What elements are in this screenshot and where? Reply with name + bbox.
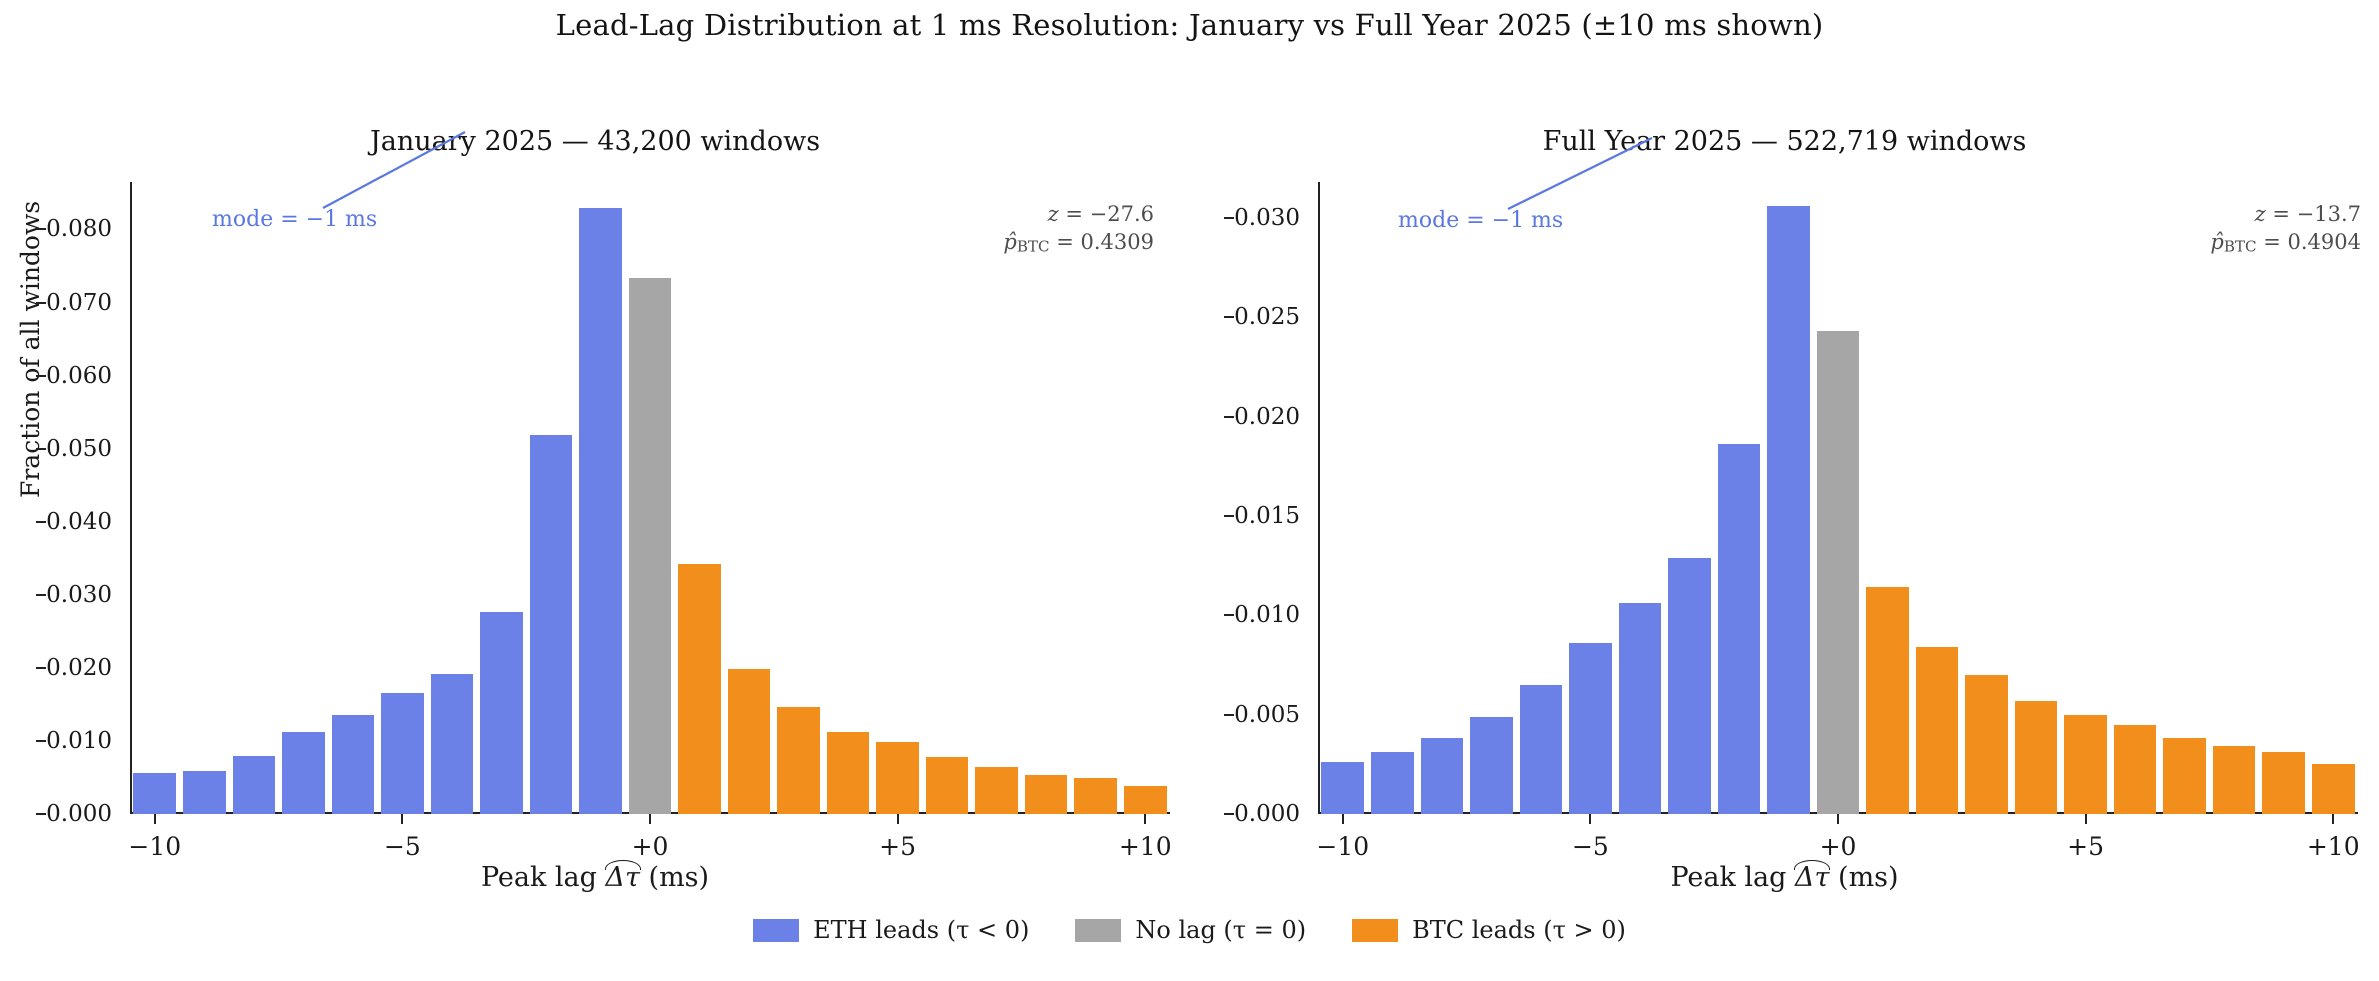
x-tick-mark	[1837, 814, 1839, 824]
y-tick-label: 0.010	[1234, 602, 1318, 628]
histogram-bar	[876, 742, 919, 814]
y-tick-mark	[36, 302, 46, 304]
panel-january: January 2025 — 43,200 windows Fraction o…	[0, 0, 1190, 981]
histogram-bar	[381, 693, 424, 814]
histogram-bar	[233, 756, 276, 814]
x-tick-mark	[154, 814, 156, 824]
histogram-bar	[133, 773, 176, 814]
x-axis-label-right: Peak lag Δτ (ms)	[1190, 862, 2379, 893]
y-tick-mark	[1224, 515, 1234, 517]
y-axis-line-left	[130, 182, 132, 814]
histogram-bar	[530, 435, 573, 814]
x-tick-label: +0	[1820, 832, 1857, 861]
histogram-bar	[1767, 206, 1810, 814]
legend-item-no-lag[interactable]: No lag (τ = 0)	[1075, 916, 1306, 944]
histogram-bar	[1569, 643, 1612, 814]
x-tick-mark	[1589, 814, 1591, 824]
histogram-bar	[777, 707, 820, 814]
x-tick-label: +5	[879, 832, 916, 861]
stat-z-january: z = −27.6	[1003, 200, 1154, 228]
histogram-bar	[579, 208, 622, 814]
y-tick-label: 0.015	[1234, 503, 1318, 529]
histogram-bar	[629, 278, 672, 814]
legend-label-eth-leads: ETH leads (τ < 0)	[813, 916, 1029, 944]
y-tick-mark	[1224, 316, 1234, 318]
histogram-bar	[2213, 746, 2256, 814]
histogram-bar	[1421, 738, 1464, 814]
histogram-bar	[183, 771, 226, 814]
legend: ETH leads (τ < 0) No lag (τ = 0) BTC lea…	[0, 916, 2379, 944]
figure-canvas: Lead-Lag Distribution at 1 ms Resolution…	[0, 0, 2379, 981]
histogram-bar	[1619, 603, 1662, 814]
stats-annotation-full-year: z = −13.7 p̂BTC = 0.4904	[2210, 200, 2361, 257]
histogram-bar	[2015, 701, 2058, 814]
histogram-bar	[728, 669, 771, 814]
stat-p-january: p̂BTC = 0.4309	[1003, 228, 1154, 257]
y-tick-label: 0.060	[46, 363, 130, 389]
y-axis-label-left: Fraction of all windows	[16, 201, 45, 498]
x-tick-label: +0	[632, 832, 669, 861]
x-tick-mark	[401, 814, 403, 824]
y-tick-mark	[36, 375, 46, 377]
delta-tau-symbol-left: Δτ	[606, 862, 640, 893]
y-tick-label: 0.080	[46, 216, 130, 242]
legend-label-no-lag: No lag (τ = 0)	[1135, 916, 1306, 944]
y-tick-label: 0.010	[46, 728, 130, 754]
panel-title-january: January 2025 — 43,200 windows	[0, 126, 1190, 157]
x-tick-label: +10	[1119, 832, 1172, 861]
histogram-bar	[827, 732, 870, 814]
stat-z-full-year: z = −13.7	[2210, 200, 2361, 228]
legend-label-btc-leads: BTC leads (τ > 0)	[1412, 916, 1626, 944]
histogram-bar	[1817, 331, 1860, 814]
histogram-bar	[332, 715, 375, 814]
y-tick-mark	[1224, 813, 1234, 815]
histogram-bar	[1025, 775, 1068, 814]
plot-area-full-year: 0.0000.0050.0100.0150.0200.0250.030−10−5…	[1318, 182, 2358, 814]
histogram-bar	[1916, 647, 1959, 814]
histogram-bar	[431, 674, 474, 814]
panel-full-year: Full Year 2025 — 522,719 windows 0.0000.…	[1190, 0, 2379, 981]
x-axis-label-left: Peak lag Δτ (ms)	[0, 862, 1190, 893]
histogram-bar	[2064, 715, 2107, 814]
histogram-bar	[1371, 752, 1414, 814]
y-tick-label: 0.025	[1234, 304, 1318, 330]
y-tick-mark	[1224, 614, 1234, 616]
x-tick-label: −10	[128, 832, 181, 861]
y-tick-label: 0.000	[46, 801, 130, 827]
histogram-bar	[1520, 685, 1563, 814]
y-tick-label: 0.070	[46, 290, 130, 316]
y-tick-mark	[36, 448, 46, 450]
histogram-bar	[2114, 725, 2157, 814]
y-tick-label: 0.040	[46, 509, 130, 535]
x-tick-mark	[649, 814, 651, 824]
x-tick-label: −10	[1316, 832, 1369, 861]
y-tick-label: 0.030	[46, 582, 130, 608]
delta-tau-symbol-right: Δτ	[1795, 862, 1829, 893]
legend-swatch-eth-leads	[753, 919, 799, 942]
x-tick-mark	[1342, 814, 1344, 824]
x-tick-label: −5	[384, 832, 421, 861]
y-tick-label: 0.000	[1234, 801, 1318, 827]
x-tick-mark	[2332, 814, 2334, 824]
mode-annotation-full-year: mode = −1 ms	[1398, 208, 1563, 233]
histogram-bar	[1321, 762, 1364, 814]
histogram-bar	[2312, 764, 2355, 814]
x-tick-label: −5	[1572, 832, 1609, 861]
histogram-bar	[1965, 675, 2008, 814]
y-tick-label: 0.020	[46, 655, 130, 681]
x-tick-mark	[897, 814, 899, 824]
y-tick-label: 0.020	[1234, 404, 1318, 430]
histogram-bar	[282, 732, 325, 814]
histogram-bar	[1124, 786, 1167, 814]
y-tick-label: 0.030	[1234, 205, 1318, 231]
histogram-bar	[480, 612, 523, 814]
y-tick-mark	[36, 594, 46, 596]
histogram-bar	[2163, 738, 2206, 814]
y-tick-mark	[1224, 714, 1234, 716]
y-tick-label: 0.005	[1234, 702, 1318, 728]
histogram-bar	[1718, 444, 1761, 814]
histogram-bar	[1074, 778, 1117, 814]
x-tick-mark	[2085, 814, 2087, 824]
y-tick-mark	[36, 740, 46, 742]
y-tick-mark	[1224, 217, 1234, 219]
histogram-bar	[1866, 587, 1909, 814]
y-tick-mark	[1224, 416, 1234, 418]
plot-area-january: 0.0000.0100.0200.0300.0400.0500.0600.070…	[130, 182, 1170, 814]
legend-item-btc-leads[interactable]: BTC leads (τ > 0)	[1352, 916, 1626, 944]
legend-swatch-btc-leads	[1352, 919, 1398, 942]
y-tick-mark	[36, 228, 46, 230]
histogram-bar	[678, 564, 721, 814]
y-axis-line-right	[1318, 182, 1320, 814]
histogram-bar	[926, 757, 969, 814]
y-tick-mark	[36, 813, 46, 815]
histogram-bar	[1668, 558, 1711, 814]
x-tick-label: +5	[2067, 832, 2104, 861]
histogram-bar	[975, 767, 1018, 814]
y-tick-label: 0.050	[46, 436, 130, 462]
panel-title-full-year: Full Year 2025 — 522,719 windows	[1190, 126, 2379, 157]
y-tick-mark	[36, 521, 46, 523]
legend-item-eth-leads[interactable]: ETH leads (τ < 0)	[753, 916, 1029, 944]
histogram-bar	[1470, 717, 1513, 814]
x-tick-label: +10	[2307, 832, 2360, 861]
stats-annotation-january: z = −27.6 p̂BTC = 0.4309	[1003, 200, 1154, 257]
x-tick-mark	[1144, 814, 1146, 824]
legend-swatch-no-lag	[1075, 919, 1121, 942]
histogram-bar	[2262, 752, 2305, 814]
mode-annotation-january: mode = −1 ms	[212, 207, 377, 232]
stat-p-full-year: p̂BTC = 0.4904	[2210, 228, 2361, 257]
y-tick-mark	[36, 667, 46, 669]
